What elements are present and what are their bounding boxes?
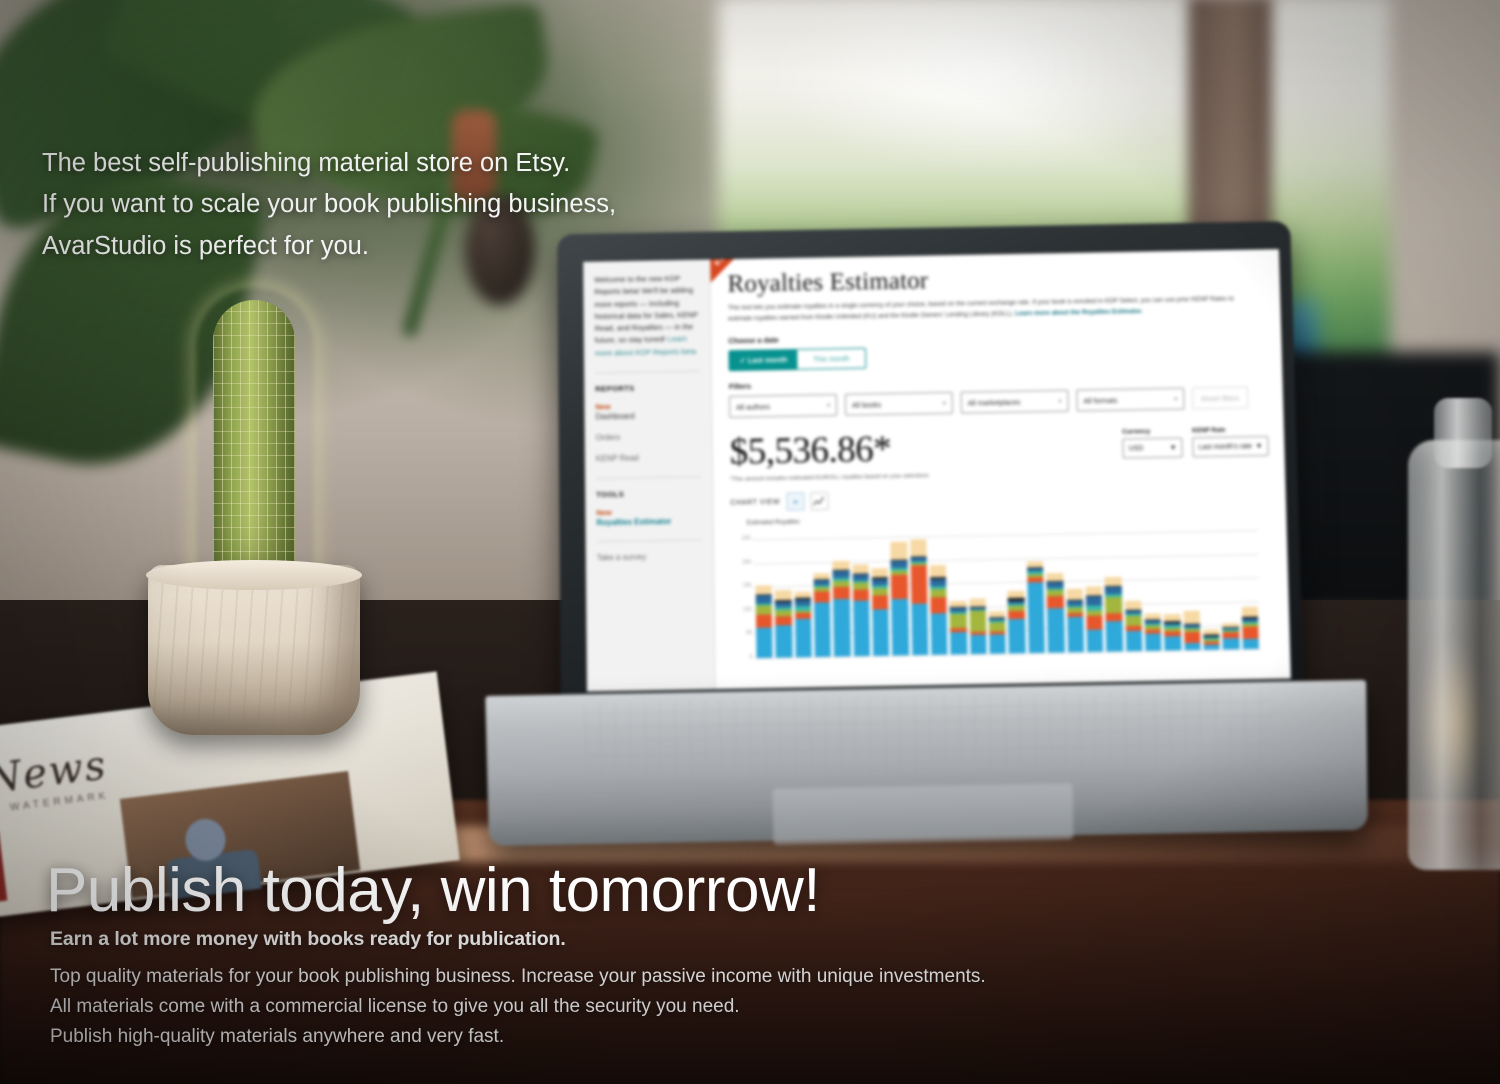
body-copy-line-3: Publish high-quality materials anywhere …	[50, 1022, 986, 1052]
kdp-reports-app: Welcome to the new KDP Reports beta! We'…	[583, 249, 1291, 691]
chart-y-tick: 195	[731, 583, 751, 589]
chart-bar-segment	[1184, 632, 1201, 643]
filters-row: All authors ▾ All books ▾ All marketplac…	[729, 386, 1267, 418]
app-sidebar: Welcome to the new KDP Reports beta! We'…	[583, 259, 716, 691]
chart-bar-segment	[911, 604, 928, 656]
kenp-rate-control: KENP Rate Last month's rate ▼	[1192, 426, 1269, 457]
bottle-neck	[1434, 398, 1492, 468]
sidebar-divider	[596, 476, 701, 479]
estimated-royalties-amount: $5,536.86*	[730, 430, 929, 471]
date-option-last-month[interactable]: ✓ Last month	[729, 350, 797, 370]
sidebar-divider	[595, 371, 700, 374]
chart-bar-segment	[989, 635, 1006, 654]
royalties-chart: Estimated Royalties 065130195260325	[731, 511, 1274, 659]
chart-bar-segment	[1105, 597, 1122, 613]
top-copy-line-2: If you want to scale your book publishin…	[42, 184, 616, 225]
chart-bar	[1125, 601, 1143, 651]
top-copy: The best self-publishing material store …	[42, 143, 616, 267]
chart-bar-segment	[1242, 626, 1259, 639]
chart-bar-segment	[1125, 601, 1142, 610]
chart-plot-area: 065130195260325	[731, 520, 1261, 658]
pot-texture	[148, 565, 360, 735]
chart-bar-segment	[1047, 596, 1064, 609]
chart-bar-segment	[853, 600, 870, 656]
chart-bar-segment	[1203, 644, 1220, 649]
chart-y-tick: 0	[732, 654, 752, 660]
chart-bar-segment	[1242, 639, 1259, 650]
chart-bar-segment	[756, 585, 773, 594]
chart-bar-segment	[1086, 586, 1103, 595]
kenp-rate-label: KENP Rate	[1192, 426, 1268, 434]
chart-bar-segment	[970, 635, 987, 654]
chart-bar	[969, 598, 986, 654]
sidebar-item-orders[interactable]: Orders	[596, 431, 701, 443]
chart-bar-segment	[930, 565, 947, 577]
chart-bars	[755, 530, 1259, 658]
kenp-rate-value: Last month's rate	[1198, 443, 1252, 451]
chart-y-tick: 130	[732, 607, 752, 613]
chart-bar-segment	[1105, 577, 1122, 586]
chart-bar	[1046, 573, 1064, 653]
chart-bar	[872, 568, 890, 656]
laptop-device: Welcome to the new KDP Reports beta! We'…	[545, 226, 1305, 706]
currency-control: Currency USD ▼	[1122, 428, 1183, 459]
sidebar-item-dashboard[interactable]: Dashboard	[595, 410, 700, 422]
currency-select[interactable]: USD ▼	[1122, 438, 1182, 459]
chart-bar-segment	[756, 605, 773, 615]
chart-bar-segment	[814, 602, 831, 657]
chart-bar-segment	[852, 564, 869, 573]
cactus-pot	[148, 565, 360, 735]
chart-bar-segment	[1086, 615, 1103, 630]
sidebar-item-kenp-read[interactable]: KENP Read	[596, 453, 701, 465]
chart-bar-segment	[1086, 630, 1103, 652]
chevron-down-icon: ▾	[943, 400, 946, 407]
choose-date-label: Choose a date	[728, 327, 1265, 346]
chart-bar	[1183, 611, 1200, 650]
filter-formats-select[interactable]: All formats ▾	[1076, 388, 1184, 412]
chart-bar-segment	[1125, 616, 1142, 626]
chart-bar-segment	[931, 614, 948, 655]
chart-bar-segment	[910, 566, 927, 604]
chart-bar-segment	[1183, 611, 1200, 624]
sidebar-item-take-survey[interactable]: Take a survey	[597, 551, 702, 563]
sidebar-welcome-message: Welcome to the new KDP Reports beta! We'…	[594, 273, 699, 360]
cactus-plant	[213, 300, 295, 600]
chart-bar-segment	[833, 587, 850, 599]
top-copy-line-3: AvarStudio is perfect for you.	[42, 226, 616, 267]
chart-bar-segment	[891, 541, 908, 560]
chart-bar-segment	[950, 632, 967, 655]
cactus-spines	[213, 300, 295, 600]
chart-y-tick: 325	[731, 535, 751, 541]
laptop-screen: Welcome to the new KDP Reports beta! We'…	[583, 249, 1291, 691]
reset-filters-button[interactable]: Reset filters	[1192, 387, 1248, 410]
currency-label: Currency	[1122, 428, 1182, 436]
chart-bar	[1086, 586, 1104, 652]
page-title: Royalties Estimator	[727, 262, 1264, 298]
chart-view-controls: CHART VIEW	[730, 484, 1270, 512]
chart-bar-segment	[756, 615, 773, 628]
body-copy-line-1: Top quality materials for your book publ…	[50, 962, 986, 992]
window-glow	[760, 0, 1230, 170]
chart-bar-segment	[1086, 596, 1103, 605]
chart-bar	[814, 573, 832, 657]
chart-bar	[1008, 591, 1026, 653]
chart-bar	[1241, 606, 1259, 649]
chart-bar-segment	[892, 599, 909, 656]
chart-bar-segment	[1066, 589, 1083, 600]
chart-bar-segment	[872, 595, 889, 609]
chart-bar-segment	[795, 619, 812, 657]
chevron-down-icon: ▼	[1169, 444, 1176, 451]
chart-bar	[930, 565, 948, 654]
glass-bottle	[1408, 440, 1500, 870]
chart-y-tick: 65	[732, 630, 752, 636]
chart-bar-segment	[1184, 643, 1201, 651]
sidebar-heading-reports: REPORTS	[595, 383, 700, 394]
currency-controls: Currency USD ▼ KENP Rate Last month's ra…	[1122, 426, 1269, 459]
chart-bar-segment	[872, 609, 889, 656]
laptop-trackpad	[772, 783, 1073, 844]
page-description-link[interactable]: Learn more about the Royalties Estimator…	[1015, 308, 1143, 317]
newspaper-color-block	[0, 831, 7, 906]
chart-bar-segment	[775, 617, 792, 626]
chart-bar	[1164, 614, 1181, 651]
filter-marketplaces-value: All marketplaces	[968, 397, 1021, 407]
body-copy: Top quality materials for your book publ…	[50, 962, 986, 1051]
date-option-this-month[interactable]: This month	[797, 349, 865, 369]
chart-y-tick: 260	[731, 559, 751, 565]
app-main-content: BETA Royalties Estimator This tool lets …	[710, 249, 1291, 689]
chart-bar	[775, 590, 792, 658]
chart-bar-segment	[1223, 638, 1240, 649]
chart-bar	[1144, 613, 1161, 651]
amount-block: $5,536.86* *This amount includes estimat…	[730, 430, 929, 483]
chart-bar	[1027, 561, 1045, 653]
chart-bar-segment	[1009, 619, 1026, 654]
chart-bar	[1222, 623, 1239, 650]
chevron-down-icon: ▾	[1174, 395, 1177, 402]
chart-bar	[1066, 589, 1084, 653]
page-description: This tool lets you estimate royalties in…	[728, 294, 1248, 325]
page-description-text: This tool lets you estimate royalties in…	[728, 296, 1234, 323]
chart-bar-segment	[1106, 621, 1123, 652]
date-range-toggle[interactable]: ✓ Last month This month	[728, 348, 866, 371]
filter-authors-value: All authors	[736, 402, 770, 412]
top-copy-line-1: The best self-publishing material store …	[42, 143, 616, 184]
sidebar-item-royalties-estimator[interactable]: Royalties Estimator	[596, 516, 701, 528]
sub-headline: Earn a lot more money with books ready f…	[50, 928, 566, 951]
chart-bar-segment	[814, 591, 831, 602]
chevron-down-icon: ▼	[1255, 443, 1262, 450]
chevron-down-icon: ▾	[827, 402, 830, 409]
laptop-keyboard	[584, 690, 1275, 785]
filter-authors-select[interactable]: All authors ▾	[729, 394, 837, 418]
main-headline: Publish today, win tomorrow!	[46, 860, 820, 922]
line-chart-icon[interactable]	[810, 492, 828, 510]
chart-bar	[1105, 577, 1123, 652]
chart-bar-segment	[1125, 631, 1142, 652]
amount-footnote: *This amount includes estimated KU/KOLL …	[730, 473, 929, 483]
chart-bar-segment	[872, 568, 889, 578]
chart-bar	[833, 561, 851, 657]
filter-formats-value: All formats	[1083, 395, 1117, 405]
bar-chart-icon[interactable]	[786, 492, 804, 510]
chart-bar-segment	[989, 622, 1006, 632]
chart-view-label: CHART VIEW	[730, 498, 780, 506]
chart-bar	[950, 601, 967, 654]
chart-bar	[989, 611, 1006, 654]
chart-bar	[852, 564, 870, 656]
chart-bar-segment	[1027, 583, 1045, 654]
chart-bar-segment	[891, 575, 908, 599]
chart-bar-segment	[775, 625, 792, 658]
chart-bar-segment	[775, 590, 792, 601]
chart-bar-segment	[1145, 633, 1162, 651]
chart-bar-segment	[853, 589, 870, 600]
filter-books-select[interactable]: All books ▾	[845, 392, 953, 416]
chart-bar-segment	[950, 614, 967, 628]
amount-row: $5,536.86* *This amount includes estimat…	[730, 424, 1270, 483]
chart-bar-segment	[756, 627, 773, 658]
chart-bar	[910, 539, 928, 655]
currency-value: USD	[1128, 445, 1143, 452]
chart-bar-segment	[1047, 609, 1064, 653]
chart-bar-segment	[930, 598, 947, 614]
chart-bar-segment	[1067, 617, 1084, 652]
pot-rim	[146, 560, 362, 590]
sidebar-heading-tools: TOOLS	[596, 488, 701, 499]
filter-marketplaces-select[interactable]: All marketplaces ▾	[961, 390, 1069, 414]
chevron-down-icon: ▾	[1058, 397, 1061, 404]
chart-bar	[1203, 629, 1220, 650]
chart-bar-segment	[1241, 606, 1258, 617]
chart-bar-segment	[1164, 636, 1181, 651]
chart-bar-segment	[970, 611, 987, 632]
chart-bar	[794, 591, 811, 657]
chart-bar-segment	[833, 599, 850, 657]
sidebar-divider	[597, 539, 702, 542]
chart-bar-segment	[833, 561, 850, 570]
body-copy-line-2: All materials come with a commercial lic…	[50, 992, 986, 1022]
chart-bar	[891, 541, 909, 655]
filter-books-value: All books	[852, 400, 881, 409]
chart-bar	[756, 585, 773, 658]
kenp-rate-select[interactable]: Last month's rate ▼	[1192, 436, 1268, 457]
chart-bar-segment	[910, 539, 927, 556]
